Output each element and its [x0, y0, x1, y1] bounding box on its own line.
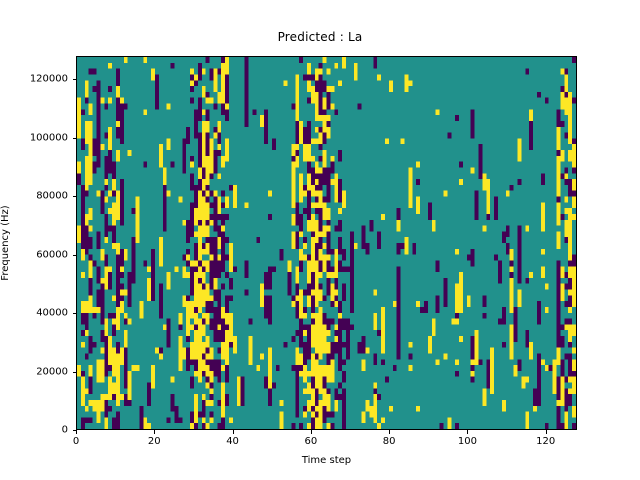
y-tick-label: 0	[62, 425, 68, 436]
y-tick-label: 60000	[36, 249, 68, 260]
x-tick-mark	[311, 430, 312, 434]
y-tick-mark	[73, 79, 77, 80]
y-axis-label: Frequency (Hz)	[0, 205, 11, 280]
page-title: Predicted : La	[0, 30, 640, 44]
y-tick-mark	[73, 138, 77, 139]
x-tick-mark	[467, 430, 468, 434]
x-tick-label: 60	[304, 436, 317, 447]
y-tick-mark	[73, 313, 77, 314]
matplotlib-figure: Predicted : La 0200004000060000800001000…	[0, 0, 640, 480]
heatmap-image	[77, 57, 576, 429]
x-tick-label: 100	[458, 436, 477, 447]
x-axis-label: Time step	[76, 455, 577, 466]
x-tick-mark	[76, 430, 77, 434]
y-tick-mark	[73, 196, 77, 197]
x-tick-label: 40	[226, 436, 239, 447]
y-tick-mark	[73, 255, 77, 256]
y-tick-label: 80000	[36, 191, 68, 202]
x-tick-label: 80	[383, 436, 396, 447]
x-tick-label: 20	[148, 436, 161, 447]
x-tick-mark	[154, 430, 155, 434]
x-tick-mark	[546, 430, 547, 434]
x-tick-mark	[389, 430, 390, 434]
y-tick-mark	[73, 372, 77, 373]
heatmap-axes	[76, 56, 577, 430]
x-tick-label: 0	[73, 436, 79, 447]
x-tick-label: 120	[536, 436, 555, 447]
y-tick-label: 20000	[36, 366, 68, 377]
x-tick-mark	[233, 430, 234, 434]
y-tick-label: 40000	[36, 308, 68, 319]
y-tick-label: 100000	[30, 132, 68, 143]
y-tick-label: 120000	[30, 74, 68, 85]
